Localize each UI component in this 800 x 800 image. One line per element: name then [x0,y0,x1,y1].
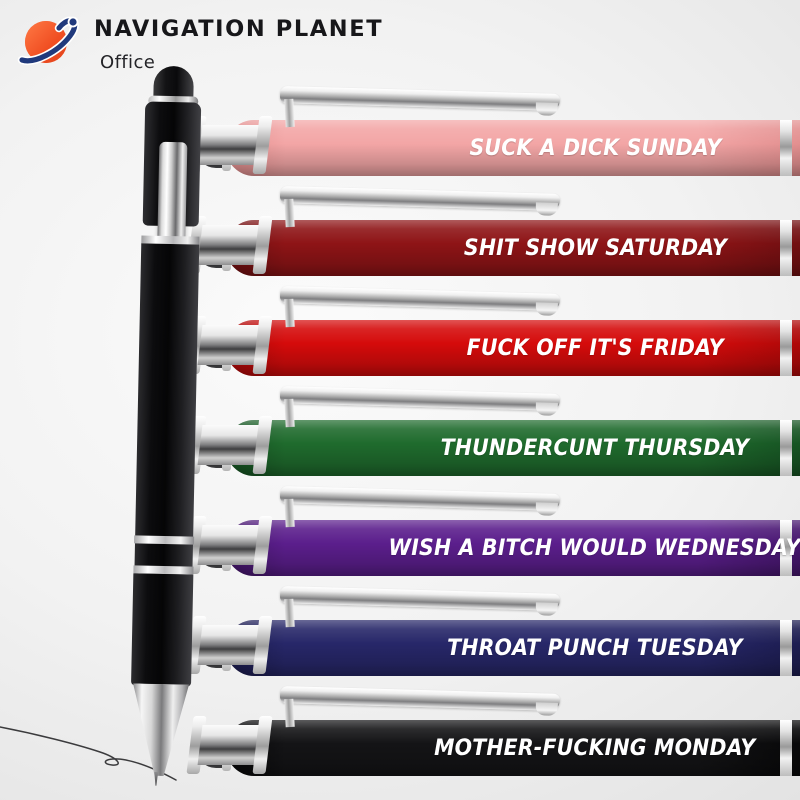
pen-chrome-ring-mid-upper [134,535,194,544]
pen-clip-arm [280,286,560,311]
barrel-shading [226,320,800,376]
pen-clip-arm [280,386,560,411]
pen-clip-post [284,599,294,627]
barrel-shading [226,720,800,776]
pen-clip [280,586,560,626]
vertical-black-stylus-pen [117,65,208,786]
pen-clip [280,686,560,726]
pen-chrome-band [780,520,792,576]
pen-barrel [226,120,800,176]
pen-chrome-cone [131,683,189,776]
pen-clip-post [284,99,294,127]
brand-header: NAVIGATION PLANET Office [14,10,383,74]
pen-clip-post [284,399,294,427]
barrel-shading [226,520,800,576]
pen-clip [280,86,560,126]
pen-chrome-collar [190,316,276,374]
product-image-canvas: NAVIGATION PLANET Office SUCK A DICK SUN… [0,0,800,800]
pen-clip-post [284,199,294,227]
pen-chrome-band [780,320,792,376]
pen-clip-post [284,699,294,727]
brand-text-block: NAVIGATION PLANET Office [94,18,383,72]
planet-orbit-icon [14,12,86,74]
pen-chrome-band [780,220,792,276]
pen-lower-barrel [131,573,193,686]
pen-clip [280,386,560,426]
pen-clip-post [284,499,294,527]
pen-clip-arm [280,686,560,711]
pen-barrel [226,220,800,276]
pen-clip-post [284,299,294,327]
brand-title: NAVIGATION PLANET [94,18,383,41]
pen-mid-barrel [133,243,199,616]
pen-clip-arm [280,186,560,211]
pen-barrel [226,320,800,376]
pen-barrel [226,520,800,576]
pen-chrome-collar [190,616,276,674]
pen-chrome-band [780,120,792,176]
barrel-shading [226,420,800,476]
pen-clip [280,486,560,526]
pen-barrel [226,620,800,676]
pen-barrel [226,720,800,776]
brand-subtitle: Office [100,54,383,72]
pen-clip-arm [280,586,560,611]
pen-clip-arm [280,86,560,111]
pen-clip-arm [280,486,560,511]
pen-chrome-band [780,420,792,476]
barrel-shading [226,220,800,276]
pen-variant-monday[interactable]: MOTHER-FUCKING MONDAY [196,682,800,800]
pen-nib [154,772,158,786]
pen-clip [280,186,560,226]
pen-chrome-collar [190,516,276,574]
pen-clip [280,286,560,326]
pen-chrome-band [780,620,792,676]
pen-chrome-band [780,720,792,776]
pen-chrome-collar [190,416,276,474]
barrel-shading [226,120,800,176]
barrel-shading [226,620,800,676]
pen-barrel [226,420,800,476]
